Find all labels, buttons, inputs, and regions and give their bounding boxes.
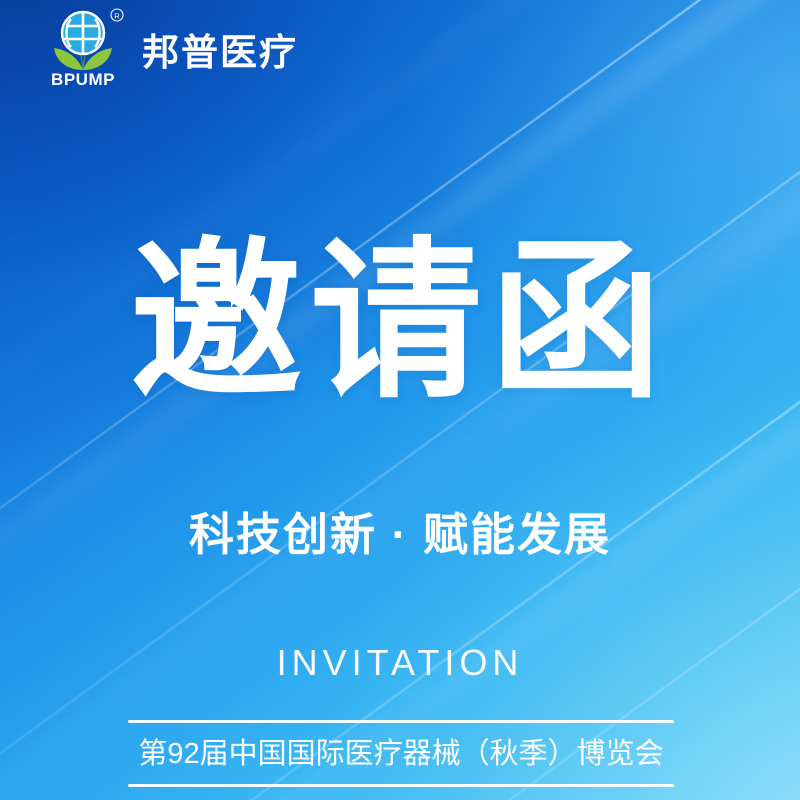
svg-text:R: R bbox=[114, 11, 120, 20]
invitation-english-label: INVITATION bbox=[0, 645, 800, 681]
bpump-emblem-icon: R bbox=[40, 8, 126, 74]
page-title: 邀请函 bbox=[0, 236, 800, 408]
event-name: 第92届中国国际医疗器械（秋季）博览会 bbox=[128, 723, 674, 784]
brand-name-cn: 邦普医疗 bbox=[142, 34, 298, 71]
divider-top bbox=[128, 720, 674, 723]
logo-wordmark: BPUMP bbox=[51, 71, 115, 88]
event-footer: 第92届中国国际医疗器械（秋季）博览会 bbox=[128, 720, 674, 787]
company-logo: R BPUMP bbox=[40, 8, 126, 94]
divider-bottom bbox=[128, 784, 674, 787]
invitation-poster: R BPUMP 邦普医疗 邀请函 科技创新 · 赋能发展 INVITATION … bbox=[0, 0, 800, 800]
brand-header: R BPUMP 邦普医疗 bbox=[40, 8, 298, 94]
slogan: 科技创新 · 赋能发展 bbox=[0, 512, 800, 557]
